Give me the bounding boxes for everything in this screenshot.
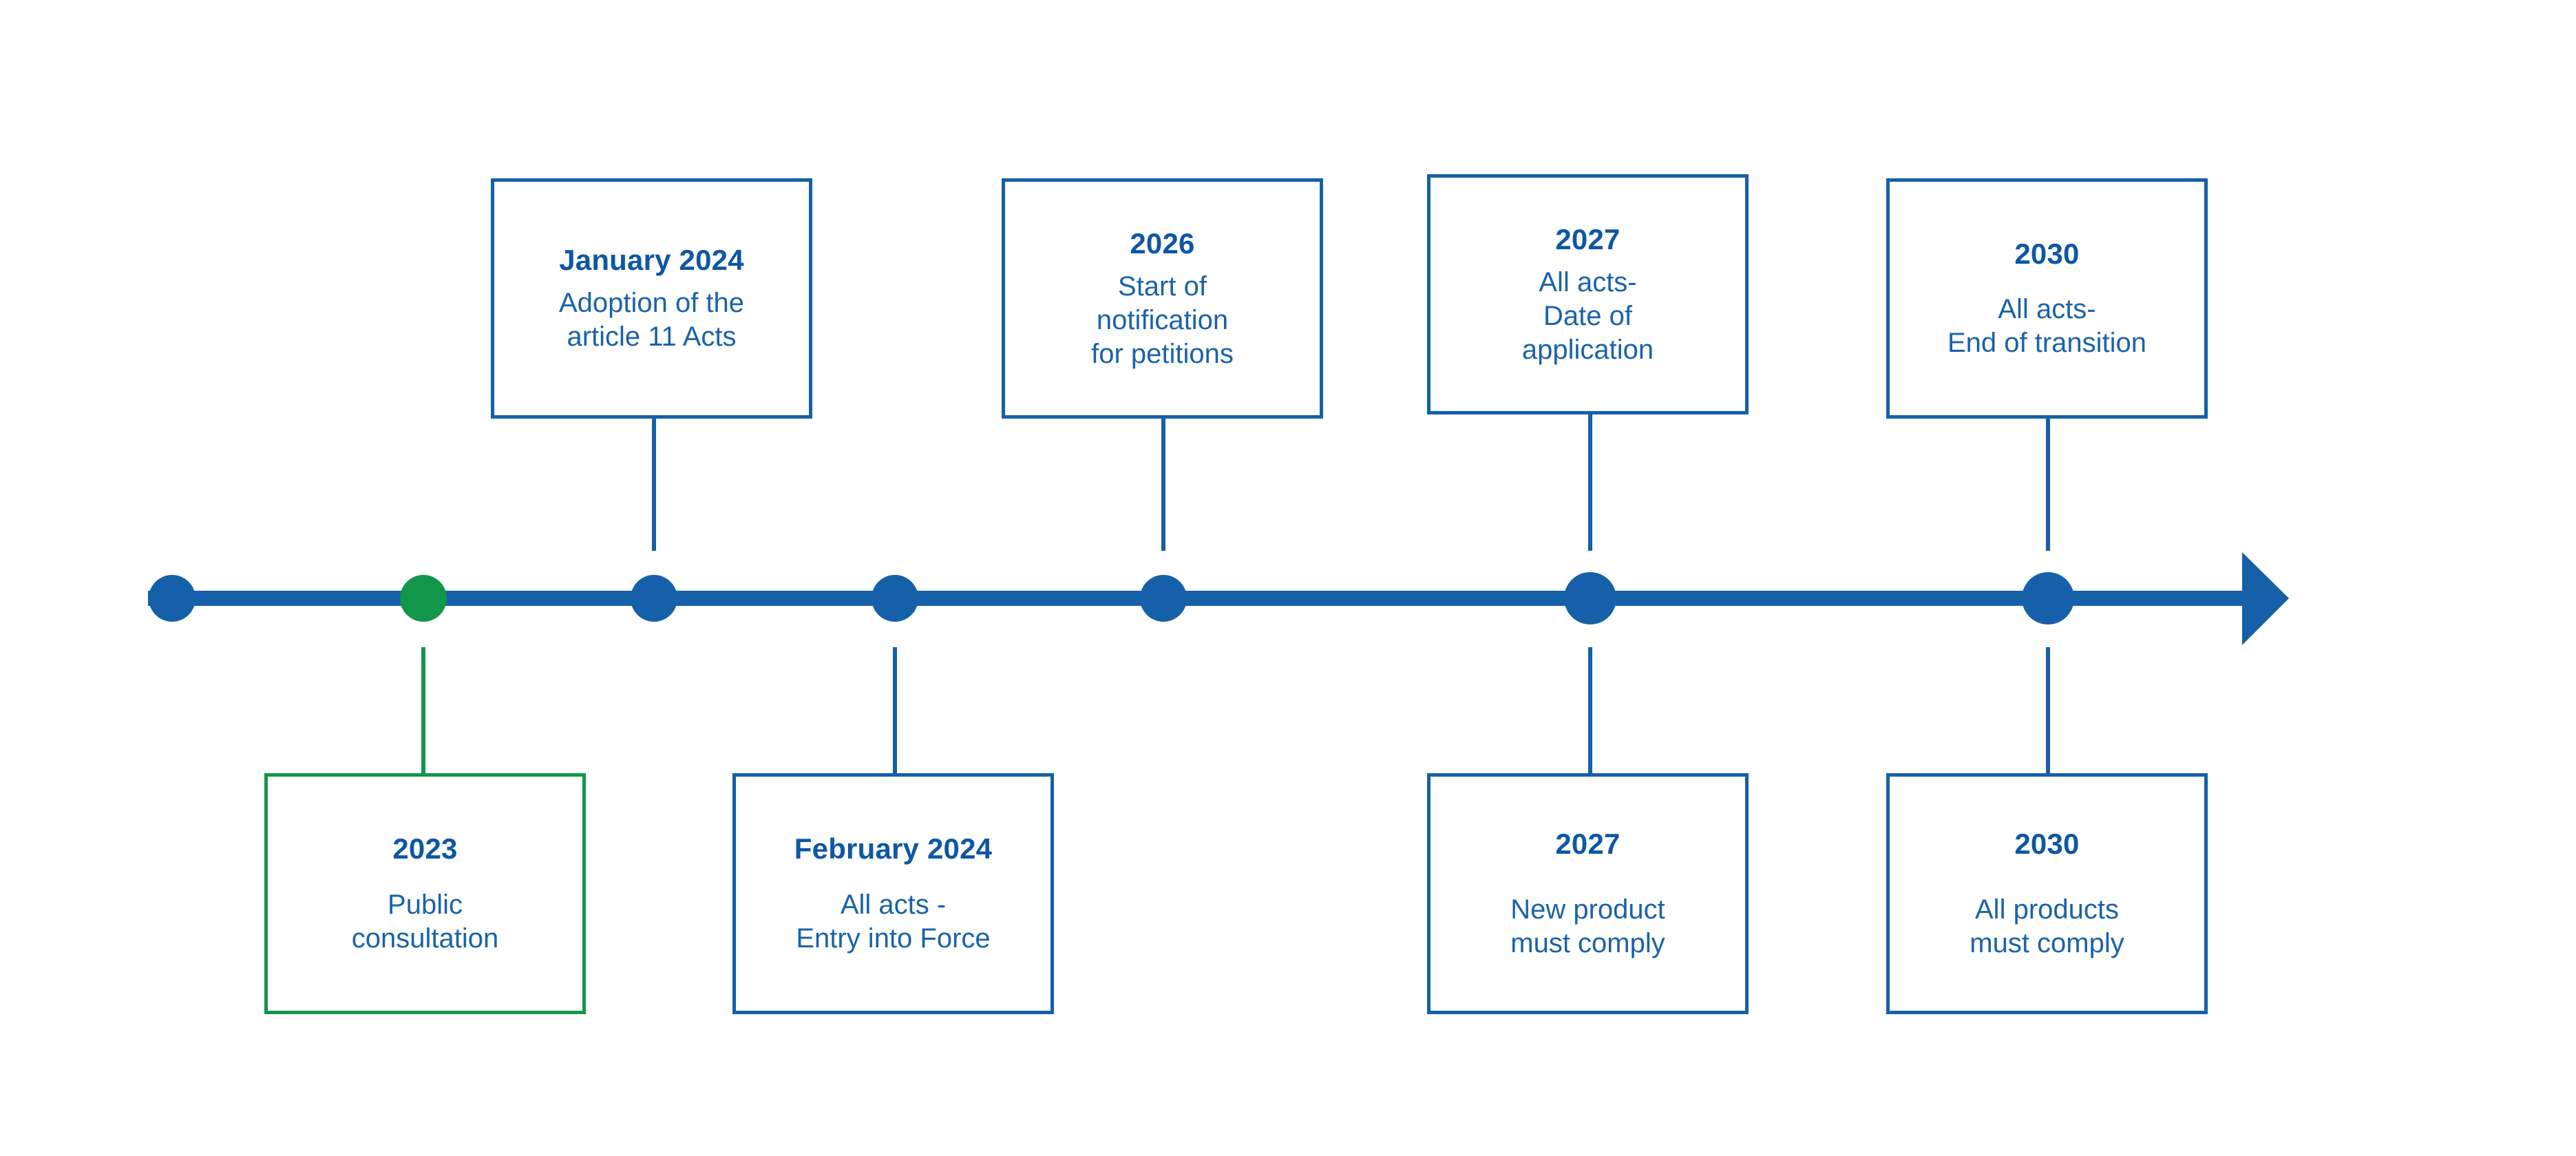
- milestone-box-bottom-february-2024[interactable]: February 2024 All acts - Entry into Forc…: [732, 773, 1054, 1014]
- milestone-year: 2023: [392, 832, 457, 866]
- milestone-description: Start of notification for petitions: [1091, 270, 1234, 370]
- milestone-box-top-january-2024[interactable]: January 2024 Adoption of the article 11 …: [491, 178, 812, 419]
- milestone-year: 2030: [2014, 237, 2079, 271]
- milestone-dot-2026[interactable]: [1140, 575, 1187, 622]
- milestone-description: All acts- Date of application: [1522, 266, 1654, 366]
- milestone-box-bottom-2030[interactable]: 2030 All products must comply: [1886, 773, 2208, 1014]
- milestone-box-top-2030[interactable]: 2030 All acts- End of transition: [1886, 178, 2208, 419]
- milestone-dot-2030[interactable]: [2022, 572, 2074, 624]
- milestone-year: 2030: [2014, 827, 2079, 861]
- milestone-dot-february-2024[interactable]: [872, 575, 918, 622]
- milestone-year: January 2024: [559, 243, 744, 277]
- milestone-box-top-2027[interactable]: 2027 All acts- Date of application: [1427, 174, 1749, 414]
- milestone-dot-2023[interactable]: [400, 575, 447, 622]
- milestone-description: Adoption of the article 11 Acts: [559, 286, 744, 354]
- timeline-line: [148, 591, 2244, 606]
- milestone-year: 2026: [1130, 227, 1194, 261]
- milestone-year: 2027: [1555, 222, 1620, 257]
- milestone-description: New product must comply: [1510, 893, 1665, 960]
- milestone-year: February 2024: [794, 832, 992, 866]
- milestone-year: 2027: [1555, 827, 1620, 861]
- milestone-description: Public consultation: [352, 888, 498, 956]
- milestone-box-bottom-2023[interactable]: 2023 Public consultation: [264, 773, 586, 1014]
- milestone-description: All acts- End of transition: [1947, 293, 2146, 360]
- timeline-diagram: January 2024 Adoption of the article 11 …: [0, 0, 2576, 1156]
- milestone-description: All acts - Entry into Force: [796, 888, 990, 956]
- timeline-arrow-icon: [2242, 552, 2289, 645]
- milestone-dot-start[interactable]: [149, 575, 196, 622]
- milestone-dot-january-2024[interactable]: [631, 575, 677, 622]
- milestone-dot-2027[interactable]: [1564, 572, 1616, 624]
- milestone-description: All products must comply: [1970, 893, 2124, 960]
- milestone-box-top-2026[interactable]: 2026 Start of notification for petitions: [1002, 178, 1323, 419]
- milestone-box-bottom-2027[interactable]: 2027 New product must comply: [1427, 773, 1749, 1014]
